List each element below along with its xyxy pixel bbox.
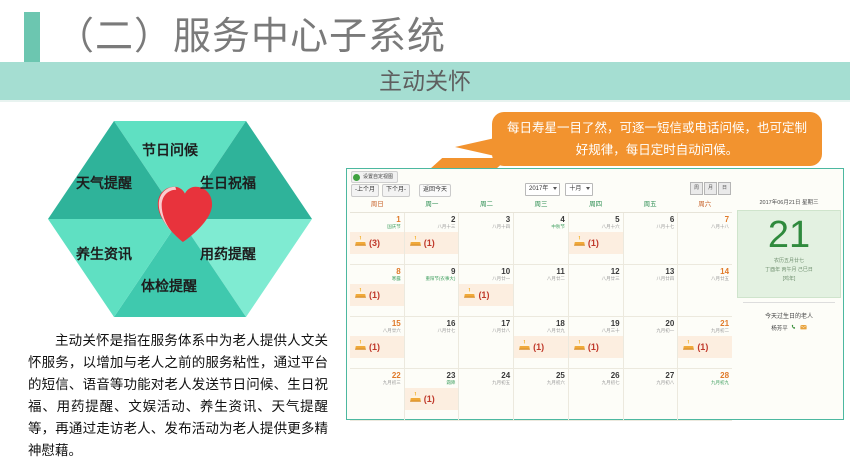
cake-icon <box>518 338 531 356</box>
birthday-event[interactable]: (1) <box>569 336 623 358</box>
day-number: 4 <box>560 215 564 224</box>
calendar-day-cell[interactable]: 10八月廿一(1) <box>459 265 514 316</box>
calendar-weeks: 1国庆节(3)2八月十三(1)3八月十四4中秋节5八月十六(1)6八月十七7八月… <box>350 213 732 421</box>
hexagon-diagram: 节日问候 天气提醒 生日祝福 养生资讯 用药提醒 体检提醒 <box>48 116 312 322</box>
day-lunar-label: 八月三十 <box>602 328 620 334</box>
hex-label-top-left: 天气提醒 <box>76 173 132 193</box>
page-title: （二）服务中心子系统 <box>56 12 446 62</box>
day-number: 28 <box>720 371 729 380</box>
calendar-day-cell[interactable]: 15八月廿六(1) <box>350 317 405 368</box>
plus-circle-icon <box>353 174 360 181</box>
weekday-header-1: 周一 <box>405 197 460 212</box>
view-toggle-group: 周 月 日 <box>690 182 731 195</box>
birthday-event[interactable]: (1) <box>569 232 623 254</box>
cake-icon <box>354 286 367 304</box>
day-number: 21 <box>720 319 729 328</box>
description-paragraph: 主动关怀是指在服务体系中为老人提供人文关怀服务，以增加与老人之前的服务粘性，通过… <box>28 330 328 462</box>
day-lunar-label: 八月廿八 <box>492 328 510 334</box>
day-lunar-label: 国庆节 <box>387 224 401 230</box>
birthday-count: (1) <box>369 342 380 352</box>
day-lunar-label: 九月初一 <box>656 328 674 334</box>
weekday-header-5: 周五 <box>623 197 678 212</box>
calendar-day-cell[interactable]: 8寒露(1) <box>350 265 405 316</box>
birthday-row: 杨芳平 <box>737 323 841 335</box>
day-number: 8 <box>396 267 400 276</box>
day-lunar-label: 九月初九 <box>711 380 729 386</box>
info-today-box: 21 农历五月廿七 丁酉年 丙午月 己巳日 [鸡年] <box>737 210 841 298</box>
birthday-count: (1) <box>588 342 599 352</box>
cake-icon <box>573 338 586 356</box>
birthday-event[interactable]: (1) <box>350 336 404 358</box>
calendar-day-cell[interactable]: 24九月初五 <box>459 369 514 420</box>
birthday-count: (1) <box>369 290 380 300</box>
calendar-day-cell[interactable]: 9重阳节(农事大) <box>405 265 460 316</box>
birthday-count: (1) <box>588 238 599 248</box>
calendar-nav: -上个月 下个月- 返回今天 <box>351 184 451 197</box>
day-lunar-label: 八月廿九 <box>547 328 565 334</box>
cake-icon <box>354 234 367 252</box>
day-number: 10 <box>501 267 510 276</box>
phone-icon[interactable] <box>791 323 797 335</box>
calendar-day-cell[interactable]: 3八月十四 <box>459 213 514 264</box>
birthday-event[interactable]: (1) <box>350 284 404 306</box>
calendar-panel: 设置自定视图 -上个月 下个月- 返回今天 2017年 十月 周 月 日 周日周… <box>346 168 844 420</box>
day-lunar-label: 寒露 <box>392 276 401 282</box>
birthday-count: (3) <box>369 238 380 248</box>
day-number: 26 <box>611 371 620 380</box>
calendar-day-cell[interactable]: 19八月三十(1) <box>569 317 624 368</box>
day-lunar-label: 九月初五 <box>492 380 510 386</box>
prev-month-button[interactable]: -上个月 <box>351 184 379 197</box>
calendar-day-cell[interactable]: 5八月十六(1) <box>569 213 624 264</box>
calendar-day-cell[interactable]: 14八月廿五 <box>678 265 732 316</box>
calendar-day-cell[interactable]: 26九月初七 <box>569 369 624 420</box>
day-lunar-label: 九月初八 <box>656 380 674 386</box>
set-custom-view-label: 设置自定视图 <box>363 174 393 180</box>
calendar-day-cell[interactable]: 13八月廿四 <box>624 265 679 316</box>
day-lunar-label: 八月十七 <box>656 224 674 230</box>
cake-icon <box>463 286 476 304</box>
header-divider <box>0 100 850 102</box>
calendar-info-panel: 2017年06月21日 星期三 21 农历五月廿七 丁酉年 丙午月 己巳日 [鸡… <box>737 197 841 416</box>
weekday-header-0: 周日 <box>350 197 405 212</box>
calendar-week-row: 22九月初三23霜降(1)24九月初五25九月初六26九月初七27九月初八28九… <box>350 369 732 421</box>
calendar-toolbar: 设置自定视图 -上个月 下个月- 返回今天 2017年 十月 周 月 日 <box>347 169 843 197</box>
birthday-count: (1) <box>533 342 544 352</box>
day-lunar-label: 八月廿六 <box>383 328 401 334</box>
day-number: 2 <box>451 215 455 224</box>
info-lunar-2: 丁酉年 丙午月 己巳日 <box>738 266 840 275</box>
day-lunar-label: 八月廿四 <box>656 276 674 282</box>
birthday-count: (1) <box>424 394 435 404</box>
birthday-event[interactable]: (3) <box>350 232 404 254</box>
set-custom-view-button[interactable]: 设置自定视图 <box>351 171 398 183</box>
birthday-count: (1) <box>424 238 435 248</box>
day-number: 13 <box>665 267 674 276</box>
day-number: 7 <box>725 215 729 224</box>
day-number: 1 <box>396 215 400 224</box>
day-number: 12 <box>611 267 620 276</box>
callout-box: 每日寿星一目了然，可逐一短信或电话问候，也可定制 好规律，每日定时自动问候。 <box>492 112 822 166</box>
day-number: 16 <box>447 319 456 328</box>
birthday-section: 今天过生日的老人 杨芳平 <box>737 311 841 335</box>
page-subtitle: 主动关怀 <box>0 62 850 100</box>
day-number: 6 <box>670 215 674 224</box>
calendar-grid: 周日周一周二周三周四周五周六 1国庆节(3)2八月十三(1)3八月十四4中秋节5… <box>350 197 732 416</box>
today-button[interactable]: 返回今天 <box>419 184 451 197</box>
calendar-day-cell[interactable]: 21九月初二(1) <box>678 317 732 368</box>
day-lunar-label: 九月初三 <box>383 380 401 386</box>
calendar-day-cell[interactable]: 12八月廿三 <box>569 265 624 316</box>
calendar-selectors: 2017年 十月 <box>525 183 593 196</box>
day-lunar-label: 八月十八 <box>711 224 729 230</box>
calendar-day-cell[interactable]: 18八月廿九(1) <box>514 317 569 368</box>
cake-icon <box>409 390 422 408</box>
birthday-title: 今天过生日的老人 <box>737 311 841 323</box>
description-text: 主动关怀是指在服务体系中为老人提供人文关怀服务，以增加与老人之前的服务粘性，通过… <box>28 330 328 462</box>
next-month-button[interactable]: 下个月- <box>382 184 410 197</box>
day-number: 5 <box>615 215 619 224</box>
day-number: 17 <box>501 319 510 328</box>
day-number: 25 <box>556 371 565 380</box>
day-lunar-label: 八月十三 <box>437 224 455 230</box>
info-divider <box>743 302 835 303</box>
calendar-day-cell[interactable]: 27九月初八 <box>624 369 679 420</box>
info-date-line: 2017年06月21日 星期三 <box>737 197 841 208</box>
day-lunar-label: 八月十六 <box>602 224 620 230</box>
cake-icon <box>682 338 695 356</box>
birthday-name: 杨芳平 <box>771 323 788 335</box>
day-lunar-label: 中秋节 <box>551 224 565 230</box>
callout-tail <box>455 138 495 156</box>
birthday-event[interactable]: (1) <box>405 388 459 410</box>
calendar-day-cell[interactable]: 20九月初一 <box>624 317 679 368</box>
birthday-event[interactable]: (1) <box>514 336 568 358</box>
calendar-day-cell[interactable]: 23霜降(1) <box>405 369 460 420</box>
hex-label-bottom-right: 用药提醒 <box>200 244 256 264</box>
calendar-day-cell[interactable]: 7八月十八 <box>678 213 732 264</box>
toggle-day[interactable]: 日 <box>718 182 731 195</box>
day-number: 19 <box>611 319 620 328</box>
weekday-header-6: 周六 <box>677 197 732 212</box>
calendar-day-cell[interactable]: 11八月廿二 <box>514 265 569 316</box>
cake-icon <box>354 338 367 356</box>
day-lunar-label: 八月廿三 <box>602 276 620 282</box>
calendar-day-cell[interactable]: 22九月初三 <box>350 369 405 420</box>
calendar-day-cell[interactable]: 28九月初九 <box>678 369 732 420</box>
birthday-count: (1) <box>478 290 489 300</box>
callout-line-2: 好规律，每日定时自动问候。 <box>506 139 808 161</box>
day-number: 20 <box>665 319 674 328</box>
calendar-week-row: 8寒露(1)9重阳节(农事大)10八月廿一(1)11八月廿二12八月廿三13八月… <box>350 265 732 317</box>
day-lunar-label: 九月初六 <box>547 380 565 386</box>
calendar-week-row: 1国庆节(3)2八月十三(1)3八月十四4中秋节5八月十六(1)6八月十七7八月… <box>350 213 732 265</box>
info-lunar-3: [鸡年] <box>738 275 840 284</box>
info-lunar-1: 农历五月廿七 <box>738 257 840 266</box>
day-lunar-label: 九月初二 <box>711 328 729 334</box>
year-select[interactable]: 2017年 <box>525 183 560 196</box>
day-lunar-label: 八月十四 <box>492 224 510 230</box>
calendar-weekday-header: 周日周一周二周三周四周五周六 <box>350 197 732 213</box>
toggle-month[interactable]: 月 <box>704 182 717 195</box>
day-lunar-label: 八月廿二 <box>547 276 565 282</box>
day-lunar-label: 八月廿一 <box>492 276 510 282</box>
hex-label-top-right: 生日祝福 <box>200 173 256 193</box>
sms-icon[interactable] <box>800 323 807 335</box>
toggle-week[interactable]: 周 <box>690 182 703 195</box>
birthday-event[interactable]: (1) <box>678 336 732 358</box>
calendar-day-cell[interactable]: 6八月十七 <box>624 213 679 264</box>
day-number: 27 <box>665 371 674 380</box>
cake-icon <box>573 234 586 252</box>
weekday-header-4: 周四 <box>568 197 623 212</box>
day-lunar-label: 重阳节(农事大) <box>425 276 455 282</box>
hex-label-bottom-left: 养生资讯 <box>76 244 132 264</box>
month-select[interactable]: 十月 <box>565 183 593 196</box>
calendar-day-cell[interactable]: 25九月初六 <box>514 369 569 420</box>
header-accent-bar <box>24 12 40 62</box>
day-number: 18 <box>556 319 565 328</box>
birthday-event[interactable]: (1) <box>459 284 513 306</box>
cake-icon <box>409 234 422 252</box>
day-number: 11 <box>556 267 564 276</box>
hex-label-top: 节日问候 <box>142 140 198 160</box>
info-big-day: 21 <box>738 211 840 257</box>
day-number: 14 <box>720 267 729 276</box>
day-number: 3 <box>506 215 510 224</box>
day-lunar-label: 九月初七 <box>602 380 620 386</box>
page-header: （二）服务中心子系统 主动关怀 <box>0 0 850 100</box>
day-number: 9 <box>451 267 455 276</box>
calendar-week-row: 15八月廿六(1)16八月廿七17八月廿八18八月廿九(1)19八月三十(1)2… <box>350 317 732 369</box>
calendar-day-cell[interactable]: 2八月十三(1) <box>405 213 460 264</box>
callout-line-1: 每日寿星一目了然，可逐一短信或电话问候，也可定制 <box>506 117 808 139</box>
day-lunar-label: 八月廿五 <box>711 276 729 282</box>
calendar-day-cell[interactable]: 1国庆节(3) <box>350 213 405 264</box>
calendar-day-cell[interactable]: 16八月廿七 <box>405 317 460 368</box>
day-lunar-label: 八月廿七 <box>437 328 455 334</box>
hex-label-bottom: 体检提醒 <box>141 276 197 296</box>
day-lunar-label: 霜降 <box>446 380 455 386</box>
calendar-day-cell[interactable]: 17八月廿八 <box>459 317 514 368</box>
weekday-header-2: 周二 <box>459 197 514 212</box>
calendar-day-cell[interactable]: 4中秋节 <box>514 213 569 264</box>
day-number: 15 <box>392 319 401 328</box>
day-number: 23 <box>447 371 456 380</box>
day-number: 22 <box>392 371 401 380</box>
day-number: 24 <box>501 371 510 380</box>
birthday-count: (1) <box>697 342 708 352</box>
birthday-event[interactable]: (1) <box>405 232 459 254</box>
weekday-header-3: 周三 <box>514 197 569 212</box>
